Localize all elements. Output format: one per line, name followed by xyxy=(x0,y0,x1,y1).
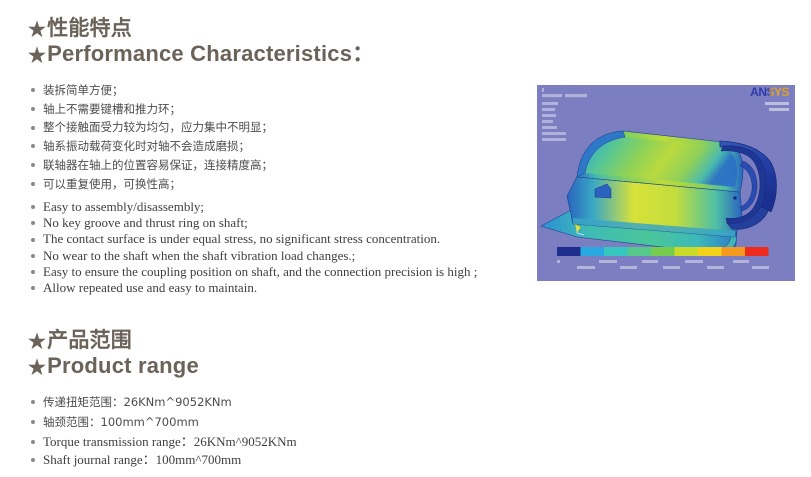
star-icon: ★ xyxy=(28,355,46,381)
star-icon: ★ xyxy=(28,43,46,69)
performance-bullets-en: Easy to assembly/disassembly; No key gro… xyxy=(30,199,477,296)
list-item-label: 轴上不需要键槽和推力环； xyxy=(43,102,181,116)
list-item: 装拆简单方便； xyxy=(30,81,273,100)
list-item: 传递扭矩范围：26KNm^9052KNm xyxy=(30,392,232,412)
fea-colorbar xyxy=(557,247,769,256)
product-range-heading-en: ★Product range xyxy=(28,353,199,381)
product-range-heading-cn: ★产品范围 xyxy=(28,328,132,355)
performance-bullets-cn: 装拆简单方便； 轴上不需要键槽和推力环； 整个接触面受力较为均匀，应力集中不明显… xyxy=(30,81,273,193)
product-range-heading-en-text: Product range xyxy=(47,353,199,378)
list-item: 整个接触面受力较为均匀，应力集中不明显； xyxy=(30,118,273,137)
performance-heading-cn: ★性能特点 xyxy=(28,16,132,43)
product-range-bullets-cn: 传递扭矩范围：26KNm^9052KNm 轴颈范围：100mm^700mm xyxy=(30,392,232,432)
list-item-label: 轴系振动载荷变化时对轴不会造成磨损； xyxy=(43,139,250,153)
list-item-label: No wear to the shaft when the shaft vibr… xyxy=(43,248,355,263)
list-item: The contact surface is under equal stres… xyxy=(30,231,477,247)
list-item: 可以重复使用，可换性高； xyxy=(30,175,273,194)
list-item-label: Easy to assembly/disassembly; xyxy=(43,199,204,214)
list-item: Easy to assembly/disassembly; xyxy=(30,199,477,215)
performance-heading-en-text: Performance Characteristics： xyxy=(47,41,374,66)
list-item-label: 轴颈范围：100mm^700mm xyxy=(43,415,199,429)
list-item: Allow repeated use and easy to maintain. xyxy=(30,280,477,296)
list-item: 轴系振动载荷变化时对轴不会造成磨损； xyxy=(30,137,273,156)
list-item: Torque transmission range：26KNm^9052KNm xyxy=(30,433,297,451)
performance-heading-cn-text: 性能特点 xyxy=(47,17,132,40)
list-item-label: 装拆简单方便； xyxy=(43,83,124,97)
list-item: 轴上不需要键槽和推力环； xyxy=(30,100,273,119)
list-item-label: Shaft journal range：100mm^700mm xyxy=(43,452,241,467)
list-item: 联轴器在轴上的位置容易保证，连接精度高； xyxy=(30,156,273,175)
list-item-label: Torque transmission range：26KNm^9052KNm xyxy=(43,434,297,449)
performance-heading-en: ★Performance Characteristics： xyxy=(28,41,374,69)
list-item-label: 联轴器在轴上的位置容易保证，连接精度高； xyxy=(43,158,273,172)
list-item: No key groove and thrust ring on shaft; xyxy=(30,215,477,231)
ansys-fea-contour-plot: ANSYS xyxy=(537,85,795,281)
list-item: No wear to the shaft when the shaft vibr… xyxy=(30,248,477,264)
list-item: Shaft journal range：100mm^700mm xyxy=(30,451,297,469)
list-item-label: 传递扭矩范围：26KNm^9052KNm xyxy=(43,395,232,409)
list-item-label: The contact surface is under equal stres… xyxy=(43,231,440,246)
star-icon: ★ xyxy=(28,330,46,355)
list-item-label: 整个接触面受力较为均匀，应力集中不明显； xyxy=(43,120,273,134)
product-range-bullets-en: Torque transmission range：26KNm^9052KNm … xyxy=(30,433,297,469)
list-item-label: 可以重复使用，可换性高； xyxy=(43,177,181,191)
fea-plot-svg: ANSYS xyxy=(537,85,795,281)
list-item-label: Allow repeated use and easy to maintain. xyxy=(43,280,257,295)
product-range-heading-cn-text: 产品范围 xyxy=(47,329,132,352)
list-item-label: Easy to ensure the coupling position on … xyxy=(43,264,477,279)
star-icon: ★ xyxy=(28,18,46,43)
svg-text:ANSYS: ANSYS xyxy=(750,85,789,99)
list-item: Easy to ensure the coupling position on … xyxy=(30,264,477,280)
list-item: 轴颈范围：100mm^700mm xyxy=(30,412,232,432)
list-item-label: No key groove and thrust ring on shaft; xyxy=(43,215,248,230)
